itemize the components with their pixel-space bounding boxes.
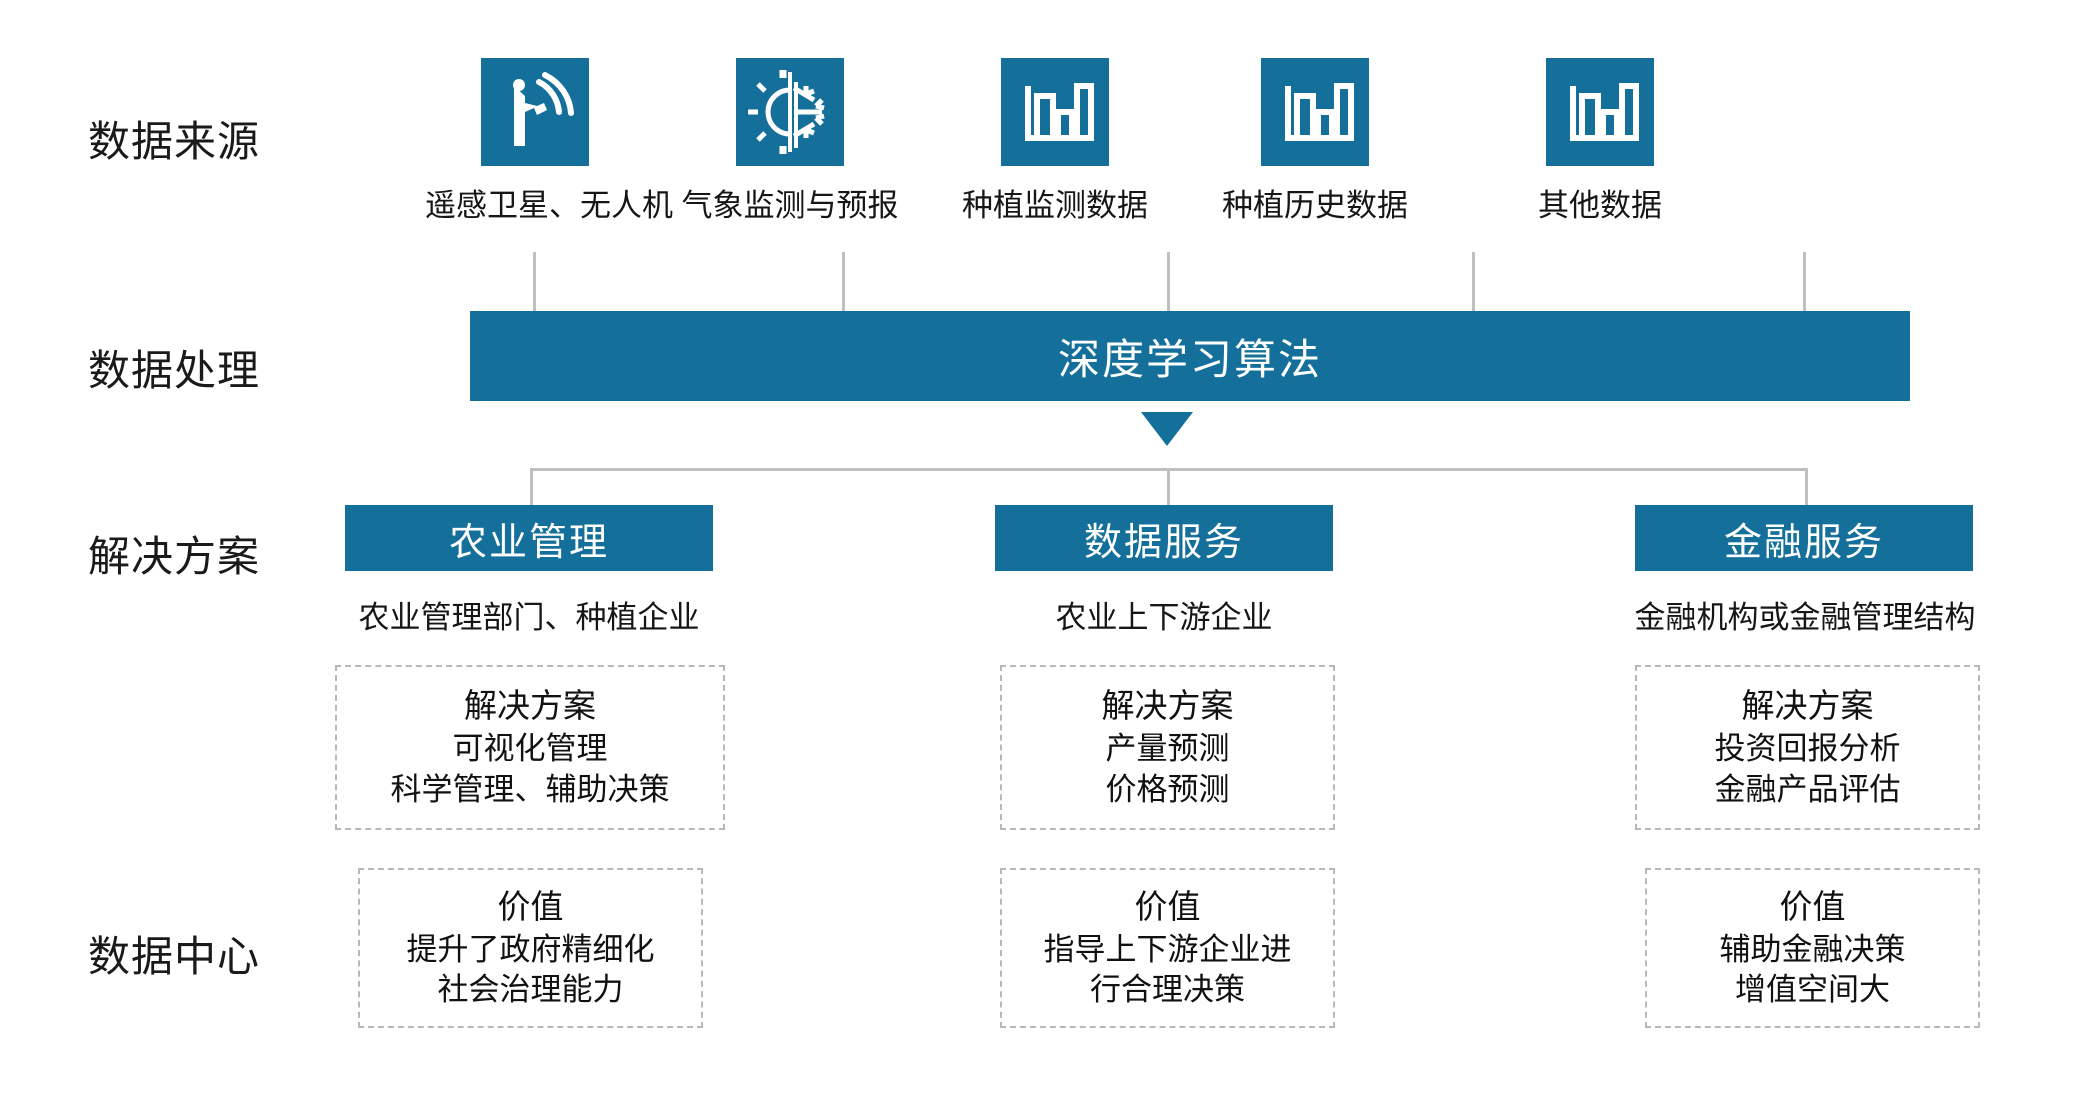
connector-stem-source-3 xyxy=(1472,252,1475,317)
bar-chart-icon xyxy=(1261,58,1369,166)
solution-detail-title-0: 解决方案 xyxy=(464,685,596,727)
processing-title: 深度学习算法 xyxy=(1058,326,1322,387)
solution-header-label-1: 数据服务 xyxy=(1084,511,1244,566)
solution-header-0[interactable]: 农业管理 xyxy=(345,505,713,571)
source-label-1: 气象监测与预报 xyxy=(680,180,900,225)
source-item-4[interactable]: 其他数据 xyxy=(1490,58,1710,225)
solution-detail-line-0-1: 科学管理、辅助决策 xyxy=(391,770,670,810)
source-item-3[interactable]: 种植历史数据 xyxy=(1205,58,1425,225)
row-label-data-source: 数据来源 xyxy=(88,108,260,169)
value-line-0-0: 提升了政府精细化 xyxy=(407,930,655,970)
row-label-data-center: 数据中心 xyxy=(88,923,260,984)
source-item-2[interactable]: 种植监测数据 xyxy=(945,58,1165,225)
value-line-2-1: 增值空间大 xyxy=(1735,970,1890,1010)
source-label-3: 种植历史数据 xyxy=(1205,180,1425,225)
bar-chart-icon xyxy=(1001,58,1109,166)
source-item-1[interactable]: 气象监测与预报 xyxy=(680,58,900,225)
solution-detail-box-2: 解决方案 投资回报分析 金融产品评估 xyxy=(1635,665,1980,830)
source-item-0[interactable]: 遥感卫星、无人机 xyxy=(425,58,645,225)
value-box-2: 价值 辅助金融决策 增值空间大 xyxy=(1645,868,1980,1028)
solution-detail-title-1: 解决方案 xyxy=(1102,685,1234,727)
value-title-0: 价值 xyxy=(498,886,564,928)
solution-header-label-2: 金融服务 xyxy=(1724,511,1884,566)
weather-sun-snowflake-icon xyxy=(736,58,844,166)
source-label-2: 种植监测数据 xyxy=(945,180,1165,225)
value-line-1-0: 指导上下游企业进 xyxy=(1044,930,1292,970)
arrow-down-to-solutions-icon xyxy=(1141,412,1193,446)
connector-stem-source-1 xyxy=(842,252,845,317)
connector-stem-source-4 xyxy=(1803,252,1806,317)
solution-header-1[interactable]: 数据服务 xyxy=(995,505,1333,571)
connector-stem-source-2 xyxy=(1167,252,1170,317)
solution-detail-box-1: 解决方案 产量预测 价格预测 xyxy=(1000,665,1335,830)
value-line-2-0: 辅助金融决策 xyxy=(1720,930,1906,970)
solution-header-label-0: 农业管理 xyxy=(449,511,609,566)
solution-detail-title-2: 解决方案 xyxy=(1742,685,1874,727)
solution-audience-2: 金融机构或金融管理结构 xyxy=(1605,592,2005,637)
solution-header-2[interactable]: 金融服务 xyxy=(1635,505,1973,571)
value-box-0: 价值 提升了政府精细化 社会治理能力 xyxy=(358,868,703,1028)
row-label-data-processing: 数据处理 xyxy=(88,337,260,398)
row-label-solution: 解决方案 xyxy=(88,523,260,584)
source-label-0: 遥感卫星、无人机 xyxy=(425,180,645,225)
diagram-canvas: 数据来源 数据处理 解决方案 数据中心 遥感卫星、无人机 xyxy=(0,0,2082,1094)
solution-audience-1: 农业上下游企业 xyxy=(985,592,1343,637)
solution-detail-line-1-0: 产量预测 xyxy=(1106,729,1230,769)
value-line-0-1: 社会治理能力 xyxy=(438,970,624,1010)
solution-audience-0: 农业管理部门、种植企业 xyxy=(345,592,713,637)
solution-detail-line-1-1: 价格预测 xyxy=(1106,770,1230,810)
solution-detail-box-0: 解决方案 可视化管理 科学管理、辅助决策 xyxy=(335,665,725,830)
solution-detail-line-2-1: 金融产品评估 xyxy=(1715,770,1901,810)
value-title-1: 价值 xyxy=(1135,886,1201,928)
value-title-2: 价值 xyxy=(1780,886,1846,928)
value-box-1: 价值 指导上下游企业进 行合理决策 xyxy=(1000,868,1335,1028)
connector-stem-source-0 xyxy=(533,252,536,317)
source-label-4: 其他数据 xyxy=(1490,180,1710,225)
solution-detail-line-2-0: 投资回报分析 xyxy=(1715,729,1901,769)
satellite-remote-sensing-icon xyxy=(481,58,589,166)
value-line-1-1: 行合理决策 xyxy=(1090,970,1245,1010)
solution-detail-line-0-0: 可视化管理 xyxy=(453,729,608,769)
deep-learning-algorithm-bar[interactable]: 深度学习算法 xyxy=(470,311,1910,401)
bar-chart-icon xyxy=(1546,58,1654,166)
